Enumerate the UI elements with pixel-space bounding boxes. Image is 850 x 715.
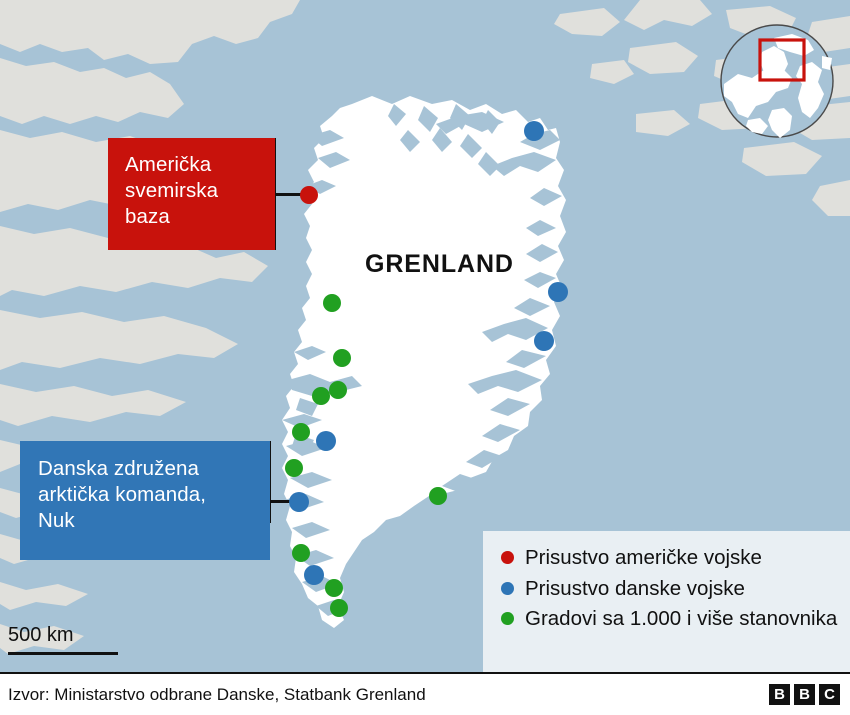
callout-us-line-1: Američka bbox=[125, 152, 275, 178]
legend-bullet-green bbox=[501, 612, 514, 625]
marker-danish-military bbox=[548, 282, 568, 302]
legend-label-danish-military: Prisustvo danske vojske bbox=[525, 576, 745, 602]
callout-us-space-base: Američka svemirska baza bbox=[108, 138, 275, 250]
bbc-logo-letter-1: B bbox=[769, 684, 790, 705]
marker-town bbox=[325, 579, 343, 597]
map-figure: Američka svemirska baza Danska združena … bbox=[0, 0, 850, 715]
legend-bullet-blue bbox=[501, 582, 514, 595]
marker-town bbox=[333, 349, 351, 367]
marker-danish-military bbox=[316, 431, 336, 451]
legend-label-towns: Gradovi sa 1.000 i više stanovnika bbox=[525, 606, 837, 632]
marker-us-military bbox=[300, 186, 318, 204]
marker-town bbox=[292, 544, 310, 562]
legend-item-towns: Gradovi sa 1.000 i više stanovnika bbox=[501, 606, 840, 632]
callout-us-line-3: baza bbox=[125, 204, 275, 230]
callout-danish-arctic-command: Danska združena arktička komanda, Nuk bbox=[20, 441, 270, 560]
globe-locator-inset bbox=[718, 22, 836, 140]
callout-danish-line-1: Danska združena bbox=[38, 456, 270, 482]
callout-danish-line-3: Nuk bbox=[38, 508, 270, 534]
callout-us-line-2: svemirska bbox=[125, 178, 275, 204]
marker-danish-military bbox=[289, 492, 309, 512]
marker-town bbox=[292, 423, 310, 441]
marker-danish-military bbox=[524, 121, 544, 141]
marker-town bbox=[329, 381, 347, 399]
source-note: Izvor: Ministarstvo odbrane Danske, Stat… bbox=[8, 685, 426, 705]
marker-danish-military bbox=[534, 331, 554, 351]
marker-town bbox=[285, 459, 303, 477]
bbc-logo-letter-2: B bbox=[794, 684, 815, 705]
callout-danish-line-2: arktička komanda, bbox=[38, 482, 270, 508]
legend-bullet-red bbox=[501, 551, 514, 564]
legend-item-danish-military: Prisustvo danske vojske bbox=[501, 576, 840, 602]
legend-item-us-military: Prisustvo američke vojske bbox=[501, 545, 840, 571]
scale-bar-rule bbox=[8, 652, 118, 655]
legend: Prisustvo američke vojske Prisustvo dans… bbox=[483, 531, 850, 672]
marker-town bbox=[323, 294, 341, 312]
marker-danish-military bbox=[304, 565, 324, 585]
marker-town bbox=[330, 599, 348, 617]
page-title: GRENLAND bbox=[365, 250, 514, 279]
bbc-logo: B B C bbox=[769, 684, 840, 705]
legend-label-us-military: Prisustvo američke vojske bbox=[525, 545, 762, 571]
marker-town bbox=[312, 387, 330, 405]
globe-svg bbox=[718, 22, 836, 140]
scale-bar-label: 500 km bbox=[8, 625, 118, 645]
bbc-logo-letter-3: C bbox=[819, 684, 840, 705]
marker-town bbox=[429, 487, 447, 505]
scale-bar: 500 km bbox=[8, 625, 118, 655]
footer: Izvor: Ministarstvo odbrane Danske, Stat… bbox=[0, 672, 850, 715]
